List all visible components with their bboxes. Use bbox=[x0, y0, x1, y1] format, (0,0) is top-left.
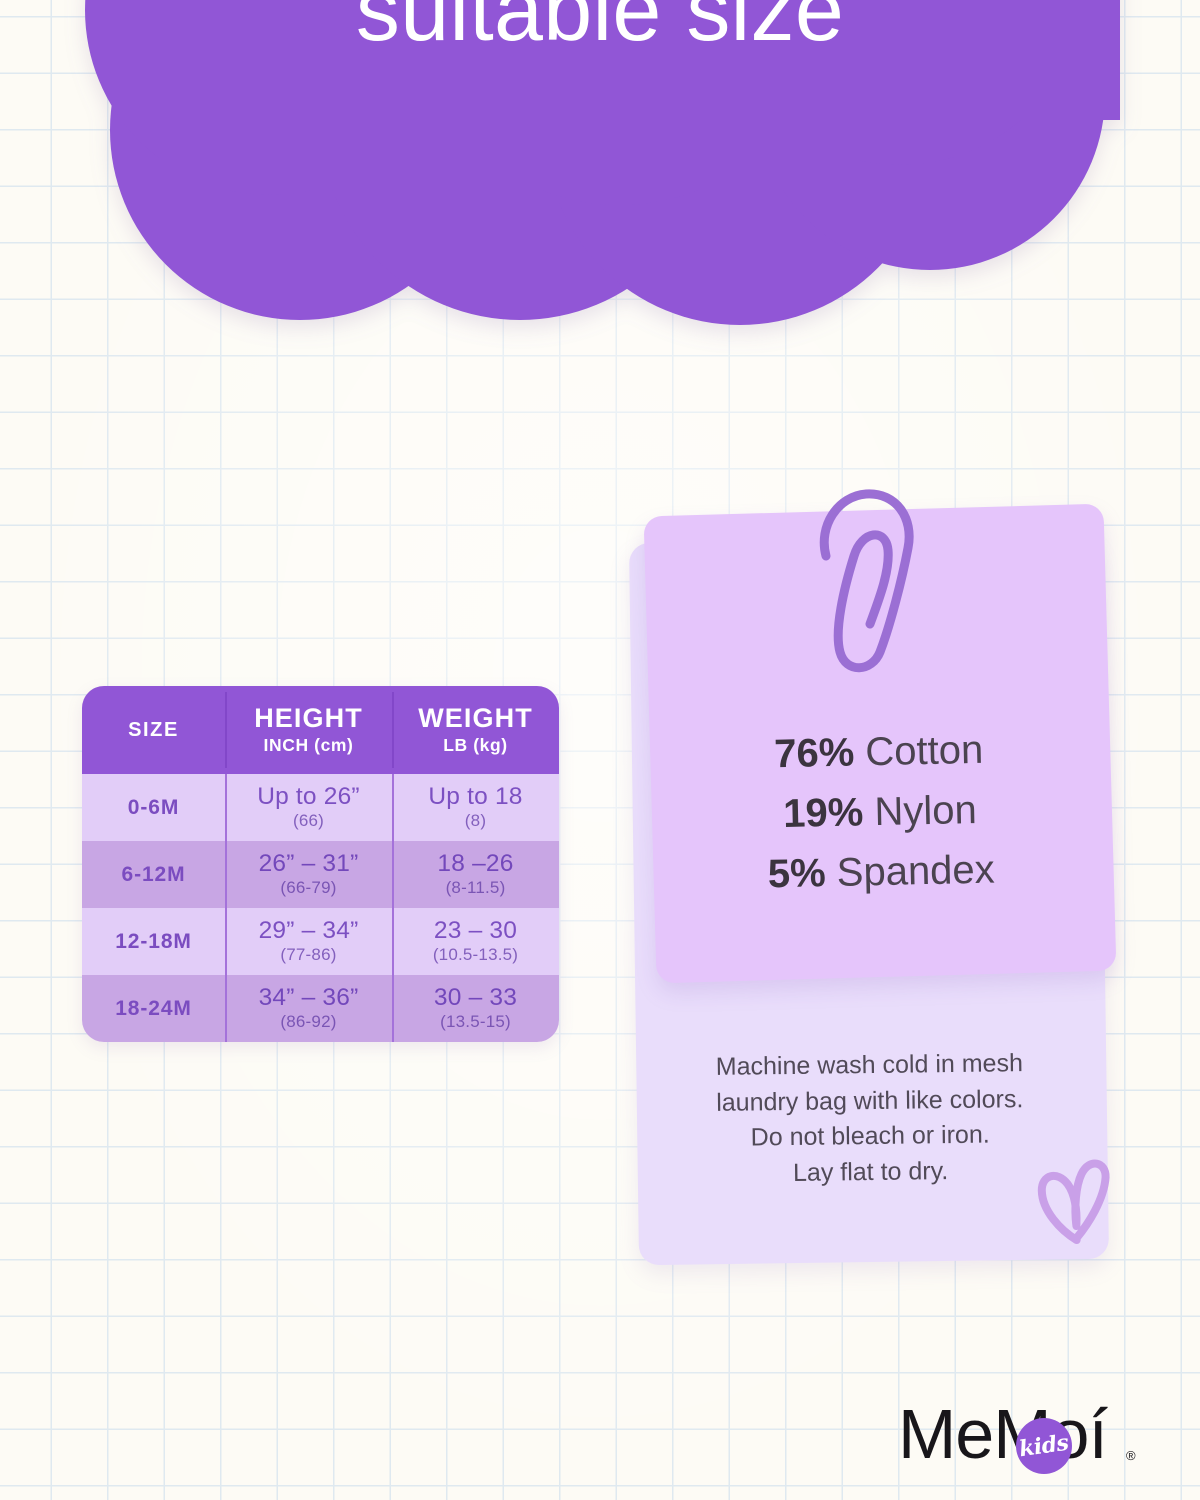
table-header-height: HEIGHT INCH (cm) bbox=[225, 686, 392, 774]
table-row: 6-12M 26” – 31” (66-79) 18 –26 (8-11.5) bbox=[82, 841, 559, 908]
table-cell-weight-metric: (8) bbox=[465, 811, 486, 831]
composition-material: Nylon bbox=[874, 788, 977, 834]
table-cell-weight-value: 23 – 30 bbox=[434, 918, 517, 944]
size-chart-table: SIZE HEIGHT INCH (cm) WEIGHT LB (kg) 0-6… bbox=[82, 686, 559, 1042]
care-line: Machine wash cold in mesh bbox=[639, 1045, 1099, 1086]
table-cell-size: 0-6M bbox=[82, 774, 225, 841]
kids-badge-label: kids bbox=[1018, 1430, 1071, 1463]
table-cell-size-value: 18-24M bbox=[115, 997, 192, 1021]
table-cell-height: 34” – 36” (86-92) bbox=[225, 975, 392, 1042]
table-header-size-label: SIZE bbox=[128, 719, 179, 742]
composition-percent: 5% bbox=[767, 851, 826, 896]
table-cell-height-value: Up to 26” bbox=[257, 784, 360, 810]
logo-wordmark: MeMoí bbox=[898, 1392, 1107, 1476]
composition-line: 5% Spandex bbox=[651, 837, 1112, 907]
heart-icon bbox=[1029, 1151, 1127, 1253]
table-cell-size: 12-18M bbox=[82, 908, 225, 975]
composition-percent: 76% bbox=[774, 731, 855, 777]
composition-line: 19% Nylon bbox=[649, 777, 1110, 847]
table-header-weight-label: WEIGHT bbox=[418, 704, 533, 732]
cloud-shape-svg bbox=[0, 0, 1200, 410]
table-cell-weight: 23 – 30 (10.5-13.5) bbox=[392, 908, 559, 975]
fabric-composition-text: 76% Cotton 19% Nylon 5% Spandex bbox=[648, 717, 1112, 907]
table-cell-weight-metric: (8-11.5) bbox=[446, 878, 506, 898]
table-cell-height: Up to 26” (66) bbox=[225, 774, 392, 841]
table-header-height-unit: INCH (cm) bbox=[264, 735, 354, 756]
kids-badge: kids bbox=[1016, 1418, 1072, 1474]
table-cell-size: 18-24M bbox=[82, 975, 225, 1042]
paperclip-icon bbox=[808, 484, 928, 679]
table-header-weight: WEIGHT LB (kg) bbox=[392, 686, 559, 774]
table-cell-weight: Up to 18 (8) bbox=[392, 774, 559, 841]
table-row: 18-24M 34” – 36” (86-92) 30 – 33 (13.5-1… bbox=[82, 975, 559, 1042]
table-cell-weight-value: Up to 18 bbox=[428, 784, 522, 810]
cloud-header-banner: Find your suitable size bbox=[0, 0, 1200, 410]
table-cell-height-metric: (66) bbox=[293, 811, 324, 831]
table-cell-height-value: 34” – 36” bbox=[259, 985, 359, 1011]
table-cell-weight-value: 30 – 33 bbox=[434, 985, 517, 1011]
composition-percent: 19% bbox=[783, 790, 864, 836]
table-header-height-label: HEIGHT bbox=[254, 704, 363, 732]
table-cell-height-value: 26” – 31” bbox=[259, 851, 359, 877]
composition-material: Spandex bbox=[836, 848, 995, 895]
care-line: laundry bag with like colors. bbox=[640, 1081, 1100, 1122]
table-row: 0-6M Up to 26” (66) Up to 18 (8) bbox=[82, 774, 559, 841]
page-title: Find your suitable size bbox=[0, 0, 1200, 55]
table-header-size: SIZE bbox=[82, 686, 225, 774]
brand-logo: MeMoí kids ® bbox=[898, 1392, 1150, 1476]
table-cell-weight: 18 –26 (8-11.5) bbox=[392, 841, 559, 908]
heart-doodle-svg bbox=[1029, 1151, 1127, 1253]
table-cell-height-metric: (86-92) bbox=[280, 1012, 336, 1032]
table-cell-height: 26” – 31” (66-79) bbox=[225, 841, 392, 908]
page-title-line-2: suitable size bbox=[0, 0, 1200, 55]
table-cell-weight: 30 – 33 (13.5-15) bbox=[392, 975, 559, 1042]
table-cell-height-value: 29” – 34” bbox=[259, 918, 359, 944]
table-cell-size-value: 12-18M bbox=[115, 930, 192, 954]
composition-material: Cotton bbox=[865, 728, 984, 774]
table-cell-height-metric: (77-86) bbox=[280, 945, 336, 965]
composition-line: 76% Cotton bbox=[648, 717, 1109, 787]
table-header-weight-unit: LB (kg) bbox=[443, 735, 507, 756]
paperclip-svg bbox=[808, 484, 928, 679]
table-cell-size-value: 6-12M bbox=[121, 863, 185, 887]
table-cell-size: 6-12M bbox=[82, 841, 225, 908]
table-header-row: SIZE HEIGHT INCH (cm) WEIGHT LB (kg) bbox=[82, 686, 559, 774]
table-cell-height-metric: (66-79) bbox=[280, 878, 336, 898]
registered-trademark-icon: ® bbox=[1126, 1448, 1136, 1463]
care-line: Do not bleach or iron. bbox=[640, 1116, 1100, 1157]
table-row: 12-18M 29” – 34” (77-86) 23 – 30 (10.5-1… bbox=[82, 908, 559, 975]
table-cell-weight-metric: (13.5-15) bbox=[440, 1012, 511, 1032]
table-cell-weight-value: 18 –26 bbox=[437, 851, 513, 877]
table-cell-height: 29” – 34” (77-86) bbox=[225, 908, 392, 975]
table-cell-size-value: 0-6M bbox=[128, 796, 179, 820]
table-cell-weight-metric: (10.5-13.5) bbox=[433, 945, 518, 965]
